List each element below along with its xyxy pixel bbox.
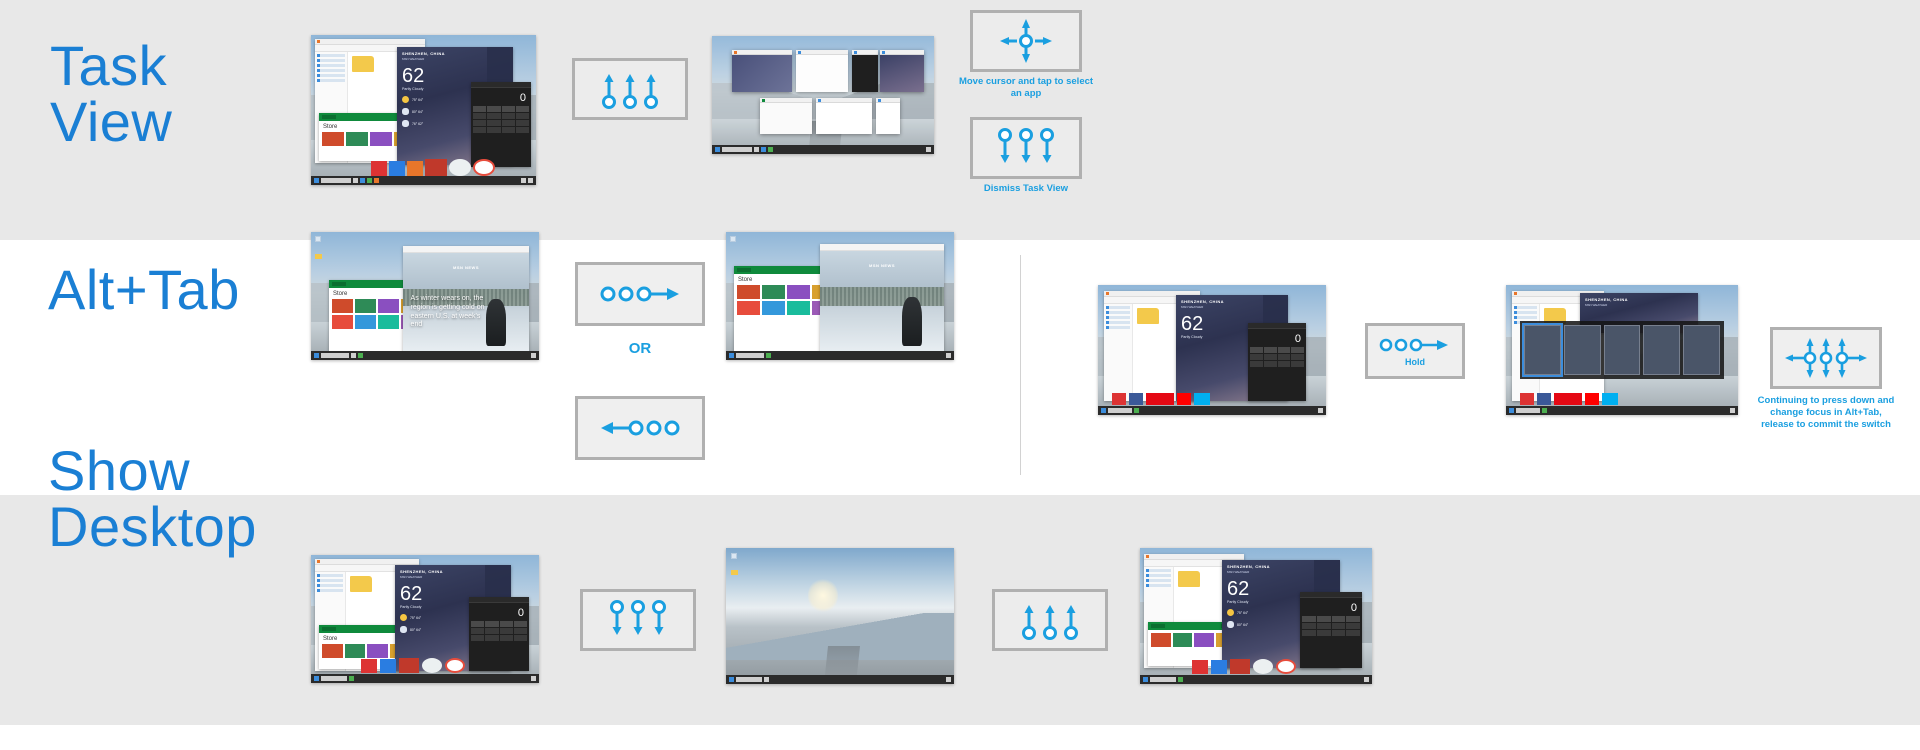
app-icon[interactable]: [1276, 659, 1296, 674]
screenshot-desktop-restored: SHENZHEN, CHINA MSN WEATHER 62 Partly Cl…: [1140, 548, 1372, 684]
thumbnail-preview: [880, 55, 924, 92]
start-button[interactable]: [715, 147, 720, 152]
row-divider: [1020, 255, 1021, 475]
window-titlebar: [403, 246, 529, 253]
forecast-temps: 80° 64°: [412, 110, 423, 114]
calc-key[interactable]: [1278, 354, 1291, 360]
app-icon[interactable]: [1537, 393, 1551, 405]
taskbar-app[interactable]: [1542, 408, 1547, 413]
store-tile[interactable]: [378, 315, 399, 329]
calculator-display: 0: [1248, 329, 1306, 347]
store-tile[interactable]: [762, 285, 785, 299]
move-cursor-crosshair-icon: [997, 16, 1055, 66]
task-view-button[interactable]: [764, 677, 769, 682]
app-icon: [818, 99, 821, 102]
app-icon[interactable]: [371, 161, 387, 176]
app-icon: [317, 560, 320, 563]
calc-key[interactable]: [485, 635, 498, 641]
taskbar[interactable]: [311, 351, 539, 360]
nav-item: [317, 574, 343, 577]
task-view-thumbnail[interactable]: [796, 50, 848, 92]
store-chip: [322, 627, 336, 631]
calc-key[interactable]: [473, 120, 486, 126]
app-icon[interactable]: [407, 161, 423, 176]
calc-key[interactable]: [485, 628, 498, 634]
store-tile[interactable]: [355, 315, 376, 329]
nav-item: [1514, 311, 1537, 314]
calc-key[interactable]: [1291, 347, 1304, 353]
gesture-three-finger-swipe-down[interactable]: [970, 117, 1082, 179]
app-icon: [798, 51, 801, 54]
desktop-folder-icon[interactable]: [315, 254, 322, 259]
start-button[interactable]: [314, 676, 319, 681]
gesture-three-finger-swipe-left[interactable]: [575, 396, 705, 460]
app-icon: [1106, 292, 1109, 295]
start-button[interactable]: [1509, 408, 1514, 413]
taskbar[interactable]: [726, 675, 954, 684]
store-tile[interactable]: [1173, 633, 1193, 647]
calc-key[interactable]: [471, 621, 484, 627]
news-brand: MSN NEWS: [820, 263, 944, 268]
calc-key[interactable]: [1346, 616, 1360, 622]
app-icon: [317, 40, 320, 43]
taskbar-app[interactable]: [360, 178, 365, 183]
thumbnail-preview: [876, 103, 900, 134]
row-title-alt-tab: Alt+Tab: [48, 262, 240, 318]
window-calculator[interactable]: 0: [471, 82, 531, 167]
tray-icon[interactable]: [946, 677, 951, 682]
app-icon: [1514, 292, 1517, 295]
app-icon[interactable]: [1129, 393, 1143, 405]
screenshot-task-view: [712, 36, 934, 154]
tray-icon[interactable]: [528, 178, 533, 183]
photo-person: [902, 297, 922, 345]
app-icon[interactable]: [473, 159, 495, 176]
nav-item: [317, 579, 343, 582]
calc-key[interactable]: [1264, 361, 1277, 367]
store-chip: [322, 115, 336, 119]
store-tile[interactable]: [332, 315, 353, 329]
three-finger-swipe-right-icon: [597, 281, 683, 307]
search-box[interactable]: [736, 353, 764, 358]
calc-key[interactable]: [502, 127, 515, 133]
forecast-temps: 75° 64°: [412, 98, 423, 102]
app-icon[interactable]: [1112, 393, 1126, 405]
three-finger-swipe-down-icon: [607, 599, 669, 641]
tray-icon[interactable]: [521, 178, 526, 183]
app-icon-netflix[interactable]: [1146, 393, 1174, 405]
start-button[interactable]: [729, 677, 734, 682]
cloud-icon: [1227, 621, 1234, 628]
three-finger-swipe-up-icon: [599, 68, 661, 110]
calc-key[interactable]: [516, 127, 529, 133]
app-icon[interactable]: [1211, 660, 1227, 674]
calc-key[interactable]: [1264, 347, 1277, 353]
system-tray[interactable]: [521, 178, 533, 183]
nav-item: [317, 584, 343, 587]
nav-item: [317, 69, 345, 72]
nav-item: [1146, 569, 1171, 572]
calc-key[interactable]: [500, 621, 513, 627]
search-box[interactable]: [321, 676, 347, 681]
taskbar[interactable]: [311, 176, 536, 185]
store-chip: [737, 268, 751, 272]
app-icon: [854, 51, 857, 54]
wallpaper: [726, 548, 954, 684]
alt-tab-item[interactable]: [1643, 325, 1680, 374]
nav-item: [1106, 321, 1130, 324]
folder-icon[interactable]: [352, 56, 374, 72]
news-hero-photo: MSN NEWS As winter wears on, the region …: [403, 253, 529, 352]
window-msn-news[interactable]: MSN NEWS As winter wears on, the region …: [403, 246, 529, 352]
window-calculator[interactable]: 0: [1300, 592, 1362, 668]
nav-item: [317, 589, 343, 592]
start-button[interactable]: [1101, 408, 1106, 413]
taskbar-app[interactable]: [367, 178, 372, 183]
app-icon[interactable]: [422, 658, 442, 673]
start-button[interactable]: [729, 353, 734, 358]
three-finger-swipe-down-icon: [995, 127, 1057, 169]
calc-key[interactable]: [473, 106, 486, 112]
task-view-thumbnail[interactable]: [876, 98, 900, 134]
calc-key[interactable]: [1317, 616, 1331, 622]
forecast-temps: 80° 64°: [410, 628, 421, 632]
taskbar-app[interactable]: [349, 676, 354, 681]
calc-key[interactable]: [1264, 354, 1277, 360]
weather-city: SHENZHEN, CHINA: [1585, 297, 1693, 302]
start-button[interactable]: [314, 353, 319, 358]
calculator-display: 0: [1300, 598, 1362, 616]
nav-item: [317, 64, 345, 67]
system-tray[interactable]: [1730, 408, 1735, 413]
store-tile[interactable]: [762, 301, 785, 315]
taskbar-app[interactable]: [1178, 677, 1183, 682]
wallpaper-sun: [808, 578, 838, 613]
gesture-reference-sheet: Task View Alt+Tab Show Desktop: [0, 0, 1920, 750]
store-chip: [332, 282, 346, 286]
app-icon[interactable]: [445, 658, 465, 673]
weather-header: SHENZHEN, CHINA MSN WEATHER: [1580, 293, 1698, 311]
gesture-three-finger-swipe-up[interactable]: [992, 589, 1108, 651]
app-icon[interactable]: [380, 659, 396, 673]
taskbar-app[interactable]: [766, 353, 771, 358]
tray-icon[interactable]: [531, 353, 536, 358]
app-icon-strip: [361, 657, 521, 673]
news-headline: As winter wears on, the region is gettin…: [411, 295, 489, 330]
calc-key[interactable]: [516, 113, 529, 119]
tray-icon[interactable]: [531, 676, 536, 681]
search-box[interactable]: [722, 147, 752, 152]
nav-item: [1514, 306, 1537, 309]
calc-key[interactable]: [485, 621, 498, 627]
forecast-temps: 76° 62°: [412, 122, 423, 126]
calc-key[interactable]: [1332, 616, 1346, 622]
system-tray[interactable]: [1318, 408, 1323, 413]
thumbnail-preview: [852, 55, 878, 92]
calc-key[interactable]: [1250, 361, 1263, 367]
calc-key[interactable]: [487, 127, 500, 133]
calc-key[interactable]: [1332, 630, 1346, 636]
caption-dismiss-task-view: Dismiss Task View: [955, 183, 1097, 195]
nav-item: [1146, 579, 1171, 582]
task-view-thumbnail[interactable]: [852, 50, 878, 92]
gesture-three-finger-swipe-right-hold[interactable]: Hold: [1365, 323, 1465, 379]
calc-key[interactable]: [500, 628, 513, 634]
task-view-button[interactable]: [351, 353, 356, 358]
forecast-temps: 75° 64°: [1237, 611, 1248, 615]
nav-item: [317, 74, 345, 77]
gesture-three-finger-swipe-down[interactable]: [580, 589, 696, 651]
alt-tab-switcher-strip[interactable]: [1520, 321, 1724, 378]
calc-key[interactable]: [473, 113, 486, 119]
calc-key[interactable]: [1291, 361, 1304, 367]
search-box[interactable]: [321, 178, 351, 183]
taskbar[interactable]: [726, 351, 954, 360]
cloud-icon: [402, 108, 409, 115]
start-button[interactable]: [1143, 677, 1148, 682]
store-tile[interactable]: [322, 644, 343, 658]
calculator-keypad[interactable]: [1300, 616, 1362, 638]
start-button[interactable]: [314, 178, 319, 183]
news-hero-photo: MSN NEWS: [820, 251, 944, 352]
calc-key[interactable]: [502, 120, 515, 126]
taskbar[interactable]: [1506, 406, 1738, 415]
tray-icon[interactable]: [946, 353, 951, 358]
calc-key[interactable]: [1302, 623, 1316, 629]
store-tile[interactable]: [367, 644, 388, 658]
system-tray[interactable]: [531, 676, 536, 681]
tray-icon[interactable]: [1318, 408, 1323, 413]
nav-item: [317, 79, 345, 82]
calc-key[interactable]: [1317, 630, 1331, 636]
thumbnail-preview: [816, 103, 872, 134]
three-finger-swipe-up-icon: [1019, 599, 1081, 641]
app-icon[interactable]: [399, 658, 419, 673]
three-finger-swipe-left-icon: [597, 415, 683, 441]
store-tile[interactable]: [346, 132, 368, 146]
app-icon-netflix[interactable]: [1554, 393, 1582, 405]
calc-key[interactable]: [487, 106, 500, 112]
taskbar[interactable]: [712, 145, 934, 154]
calc-key[interactable]: [473, 127, 486, 133]
three-finger-swipe-right-hold-icon: [1377, 335, 1453, 355]
gesture-three-finger-swipe-right[interactable]: [575, 262, 705, 326]
nav-item: [1146, 584, 1171, 587]
app-icon-skype[interactable]: [1602, 393, 1618, 405]
app-icon-strip: [1112, 391, 1310, 405]
store-tile[interactable]: [332, 299, 353, 313]
search-box[interactable]: [321, 353, 349, 358]
tray-icon[interactable]: [1364, 677, 1369, 682]
task-view-thumbnail[interactable]: [732, 50, 792, 92]
calc-key[interactable]: [1291, 354, 1304, 360]
window-calculator[interactable]: 0: [1248, 323, 1306, 401]
folder-icon[interactable]: [1178, 571, 1200, 587]
screenshot-desktop-news: Store MSN NEWS As winter wears on, the r…: [311, 232, 539, 360]
app-icon: [762, 99, 765, 102]
nav-item: [317, 54, 345, 57]
store-tile[interactable]: [737, 285, 760, 299]
calc-key[interactable]: [1332, 623, 1346, 629]
task-view-button[interactable]: [754, 147, 759, 152]
system-tray[interactable]: [926, 147, 931, 152]
screenshot-bare-desktop: [726, 548, 954, 684]
store-tile[interactable]: [322, 132, 344, 146]
caption-press-and-move: Continuing to press down and change focu…: [1756, 395, 1896, 431]
sun-icon: [400, 614, 407, 621]
calc-key[interactable]: [502, 106, 515, 112]
calculator-keypad[interactable]: [471, 106, 531, 135]
app-icon[interactable]: [389, 161, 405, 176]
task-view-button[interactable]: [353, 178, 358, 183]
cloud-icon: [400, 626, 407, 633]
store-tile[interactable]: [787, 285, 810, 299]
calculator-keypad[interactable]: [1248, 347, 1306, 369]
app-icon[interactable]: [1253, 659, 1273, 674]
search-box[interactable]: [1108, 408, 1132, 413]
taskbar[interactable]: [1098, 406, 1326, 415]
store-tile[interactable]: [370, 132, 392, 146]
app-icon-skype[interactable]: [1194, 393, 1210, 405]
taskbar-app[interactable]: [374, 178, 379, 183]
task-view-thumbnail[interactable]: [760, 98, 812, 134]
calc-key[interactable]: [1302, 616, 1316, 622]
footer-strip: [0, 725, 1920, 750]
folder-icon[interactable]: [1137, 308, 1159, 324]
app-icon-youtube[interactable]: [1177, 393, 1191, 405]
store-chip: [1151, 624, 1165, 628]
app-icon: [734, 51, 737, 54]
search-box[interactable]: [736, 677, 762, 682]
calc-key[interactable]: [514, 635, 527, 641]
app-icon-youtube[interactable]: [1585, 393, 1599, 405]
calculator-display: 0: [471, 88, 531, 106]
calc-key[interactable]: [516, 106, 529, 112]
system-tray[interactable]: [531, 353, 536, 358]
store-tile[interactable]: [787, 301, 810, 315]
desktop-icon[interactable]: [315, 236, 321, 242]
nav-item: [1146, 574, 1171, 577]
row-title-task-view: Task View: [50, 38, 172, 150]
forecast-temps: 75° 64°: [410, 616, 421, 620]
store-tile[interactable]: [1194, 633, 1214, 647]
gesture-three-finger-swipe-up[interactable]: [572, 58, 688, 120]
search-box[interactable]: [1516, 408, 1540, 413]
screenshot-desktop-windows-open: Store SHENZHEN, CHINA MSN WEATHER 62 Par…: [311, 555, 539, 683]
calc-key[interactable]: [1346, 630, 1360, 636]
task-view-thumbnail[interactable]: [816, 98, 872, 134]
nav-item: [1106, 311, 1130, 314]
task-view-thumbnail[interactable]: [880, 50, 924, 92]
calc-key[interactable]: [1250, 347, 1263, 353]
calc-key[interactable]: [487, 120, 500, 126]
tray-icon[interactable]: [1730, 408, 1735, 413]
screenshot-alt-tab-target: Store MSN NEWS: [726, 232, 954, 360]
app-icon[interactable]: [1230, 659, 1250, 674]
tray-icon[interactable]: [926, 147, 931, 152]
search-box[interactable]: [1150, 677, 1176, 682]
app-icon-strip: [1192, 658, 1354, 674]
calculator-display: 0: [469, 603, 529, 621]
or-label: OR: [590, 340, 690, 357]
taskbar[interactable]: [1140, 675, 1372, 684]
alt-tab-item[interactable]: [1524, 325, 1561, 374]
app-icon[interactable]: [1192, 660, 1208, 674]
store-tile[interactable]: [378, 299, 399, 313]
section-show-desktop-background: [0, 495, 1920, 725]
store-tile[interactable]: [345, 644, 366, 658]
calc-key[interactable]: [514, 628, 527, 634]
store-tile[interactable]: [355, 299, 376, 313]
screenshot-desktop-with-windows: Store SHENZHEN, CHINA MSN WEATHER 62 Par…: [311, 35, 536, 185]
taskbar-app[interactable]: [761, 147, 766, 152]
nav-item: [1106, 316, 1130, 319]
nav-item: [317, 59, 345, 62]
system-tray[interactable]: [946, 353, 951, 358]
window-msn-news[interactable]: MSN NEWS: [820, 244, 944, 352]
folder-icon[interactable]: [350, 576, 372, 592]
explorer-nav-pane[interactable]: [1104, 304, 1133, 401]
store-tile[interactable]: [1151, 633, 1171, 647]
app-icon-strip: [1520, 391, 1722, 405]
app-icon: [882, 51, 885, 54]
desktop-folder-icon[interactable]: [731, 570, 738, 575]
app-icon[interactable]: [1520, 393, 1534, 405]
taskbar-app[interactable]: [358, 353, 363, 358]
app-icon: [1146, 555, 1149, 558]
weather-source: MSN WEATHER: [1585, 303, 1693, 307]
window-titlebar: [820, 244, 944, 251]
calculator-keypad[interactable]: [469, 621, 529, 643]
app-icon[interactable]: [425, 159, 447, 176]
store-tile[interactable]: [737, 301, 760, 315]
desktop-icon[interactable]: [730, 236, 736, 242]
calc-key[interactable]: [471, 635, 484, 641]
nav-item: [1106, 306, 1130, 309]
app-icon[interactable]: [361, 659, 377, 673]
gesture-move-cursor-crosshair[interactable]: [970, 10, 1082, 72]
calc-key[interactable]: [514, 621, 527, 627]
alt-tab-item[interactable]: [1604, 325, 1641, 374]
calc-key[interactable]: [1302, 630, 1316, 636]
row-title-show-desktop: Show Desktop: [48, 443, 257, 555]
taskbar-app[interactable]: [1134, 408, 1139, 413]
calc-key[interactable]: [1317, 623, 1331, 629]
system-tray[interactable]: [946, 677, 951, 682]
app-icon-strip: [371, 158, 518, 176]
calc-key[interactable]: [502, 113, 515, 119]
calc-key[interactable]: [1278, 347, 1291, 353]
gesture-three-finger-press-and-move[interactable]: [1770, 327, 1882, 389]
alt-tab-item[interactable]: [1564, 325, 1601, 374]
caption-move-cursor: Move cursor and tap to select an app: [955, 76, 1097, 100]
caption-hold: Hold: [1405, 357, 1425, 367]
desktop-icon[interactable]: [731, 553, 737, 559]
taskbar-app[interactable]: [768, 147, 773, 152]
calc-key[interactable]: [516, 120, 529, 126]
calc-key[interactable]: [1278, 361, 1291, 367]
calc-key[interactable]: [1250, 354, 1263, 360]
calc-key[interactable]: [500, 635, 513, 641]
calc-key[interactable]: [1346, 623, 1360, 629]
calc-key[interactable]: [471, 628, 484, 634]
taskbar[interactable]: [311, 674, 539, 683]
calc-key[interactable]: [487, 113, 500, 119]
alt-tab-item[interactable]: [1683, 325, 1720, 374]
app-icon[interactable]: [449, 159, 471, 176]
screenshot-desktop-before-hold: SHENZHEN, CHINA MSN WEATHER 62 Partly Cl…: [1098, 285, 1326, 415]
system-tray[interactable]: [1364, 677, 1369, 682]
